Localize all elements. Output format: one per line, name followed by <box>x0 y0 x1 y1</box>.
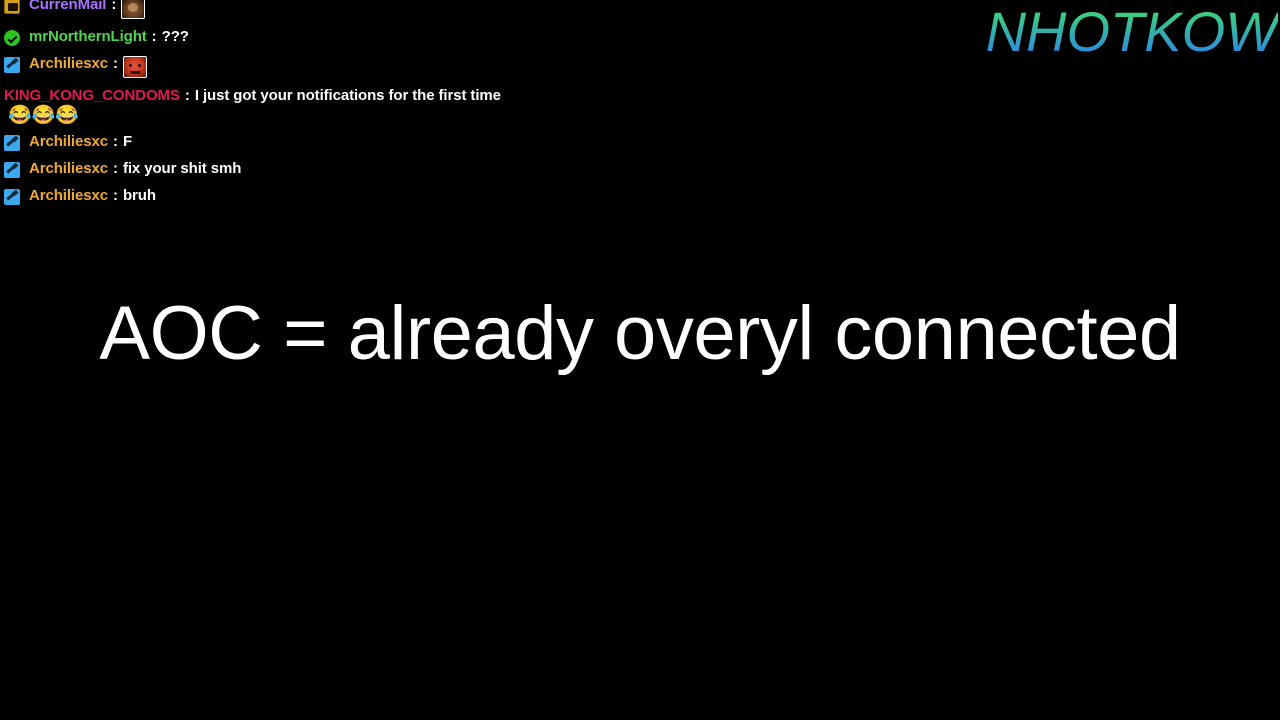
chat-message-emoji: 😂😂😂 <box>4 105 900 129</box>
chat-message-text: I just got your notifications for the fi… <box>195 88 501 103</box>
chat-overlay: CurrenMail : mrNorthernLight : ??? Archi… <box>0 0 900 210</box>
chat-colon: : <box>106 0 121 12</box>
caption-text: AOC = already overyl connected <box>0 296 1280 372</box>
chat-username[interactable]: mrNorthernLight <box>29 29 147 44</box>
chat-colon: : <box>108 134 123 149</box>
chat-message: Archiliesxc : fix your shit smh <box>4 156 900 183</box>
verified-badge <box>4 30 20 46</box>
chat-message-text: fix your shit smh <box>123 161 241 176</box>
chat-message-text: ??? <box>162 29 189 44</box>
chat-message-text: F <box>123 134 132 149</box>
chat-colon: : <box>108 56 123 71</box>
channel-logo: NHOTKOW <box>986 4 1278 60</box>
chat-message-text: bruh <box>123 188 156 203</box>
moderator-badge <box>4 57 20 73</box>
chat-username[interactable]: KING_KONG_CONDOMS <box>4 88 180 103</box>
stream-overlay-stage: CurrenMail : mrNorthernLight : ??? Archi… <box>0 0 1280 720</box>
chat-message: Archiliesxc : bruh <box>4 183 900 210</box>
chat-message: CurrenMail : <box>4 0 900 24</box>
moderator-badge <box>4 135 20 151</box>
chat-message: mrNorthernLight : ??? <box>4 24 900 51</box>
chat-colon: : <box>180 88 195 103</box>
crown-badge <box>4 0 20 14</box>
chat-username[interactable]: Archiliesxc <box>29 56 108 71</box>
monkey-emote <box>121 0 145 19</box>
chat-message: Archiliesxc : F <box>4 129 900 156</box>
chat-username[interactable]: CurrenMail <box>29 0 106 12</box>
chat-username[interactable]: Archiliesxc <box>29 134 108 149</box>
red-face-emote <box>123 56 147 78</box>
chat-colon: : <box>108 161 123 176</box>
chat-message: Archiliesxc : <box>4 51 900 83</box>
moderator-badge <box>4 189 20 205</box>
chat-colon: : <box>147 29 162 44</box>
chat-message: KING_KONG_CONDOMS : I just got your noti… <box>4 83 900 105</box>
chat-username[interactable]: Archiliesxc <box>29 188 108 203</box>
chat-colon: : <box>108 188 123 203</box>
chat-username[interactable]: Archiliesxc <box>29 161 108 176</box>
moderator-badge <box>4 162 20 178</box>
